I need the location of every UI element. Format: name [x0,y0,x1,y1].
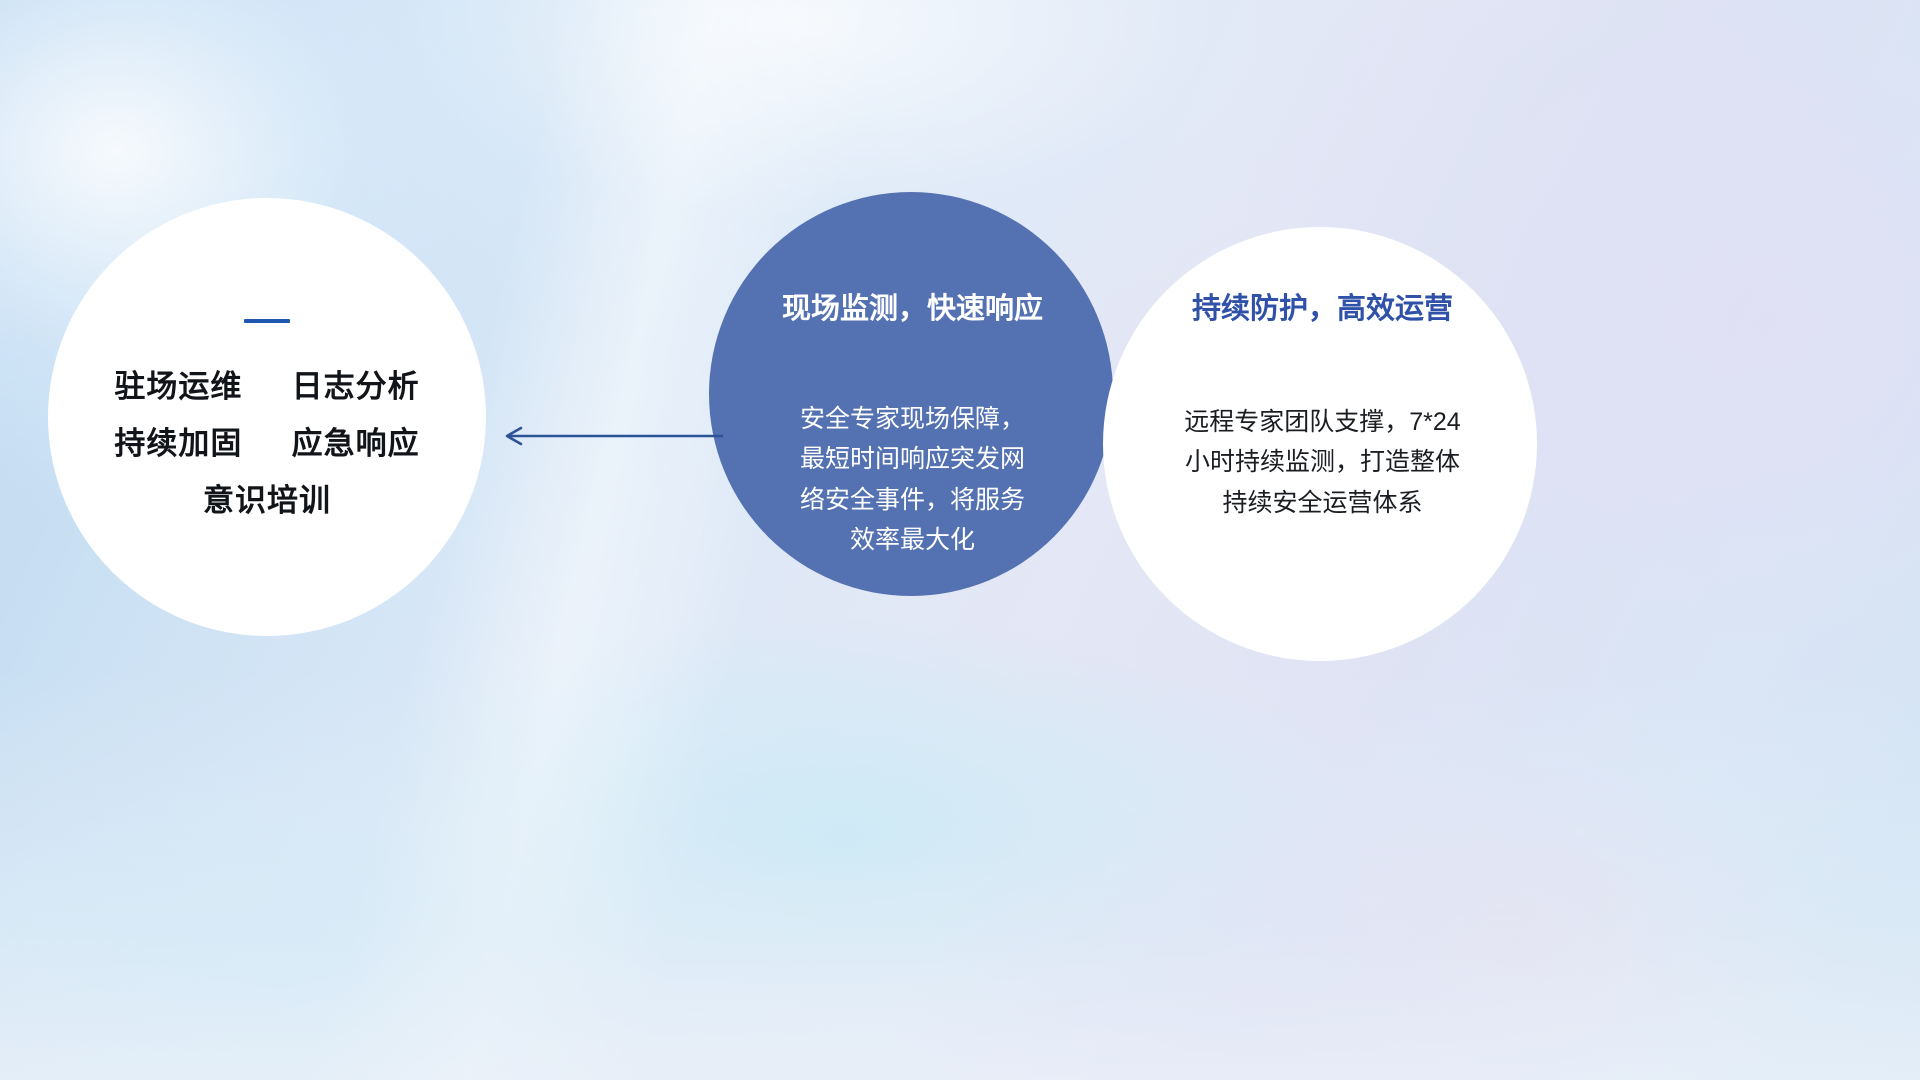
body-line: 远程专家团队支撑，7*24 [1184,408,1460,436]
capability-label-awareness-training: 意识培训 [203,483,331,518]
capability-row-1: 驻场运维 日志分析 [114,371,419,402]
continuous-protection-content: 持续防护，高效运营 远程专家团队支撑，7*24 小时持续监测，打造整体 持续安全… [1130,292,1515,523]
continuous-protection-body: 远程专家团队支撑，7*24 小时持续监测，打造整体 持续安全运营体系 [1130,402,1515,524]
slide-canvas: 驻场运维 日志分析 持续加固 应急响应 意识培训 现场监测，快速响应 安全专家现… [0,0,1920,1080]
capability-label-continuous-hardening: 持续加固 [114,426,242,461]
capability-label-log-analysis: 日志分析 [292,369,420,404]
body-line: 持续安全运营体系 [1222,489,1422,517]
onsite-monitoring-title: 现场监测，快速响应 [740,292,1085,327]
divider-dash-icon [244,319,290,323]
body-line: 小时持续监测，打造整体 [1185,448,1460,476]
body-line: 最短时间响应突发网 [800,445,1025,473]
continuous-protection-title: 持续防护，高效运营 [1130,292,1515,327]
body-line: 效率最大化 [850,526,975,554]
capability-row-3: 意识培训 [203,485,331,516]
left-pointing-arrow [495,424,725,448]
capability-label-emergency-response: 应急响应 [292,426,420,461]
onsite-monitoring-content: 现场监测，快速响应 安全专家现场保障， 最短时间响应突发网 络安全事件，将服务 … [740,292,1085,561]
capabilities-circle[interactable]: 驻场运维 日志分析 持续加固 应急响应 意识培训 [48,198,486,636]
body-line: 安全专家现场保障， [800,405,1025,433]
capability-label-onsite-ops: 驻场运维 [114,369,242,404]
onsite-monitoring-body: 安全专家现场保障， 最短时间响应突发网 络安全事件，将服务 效率最大化 [740,399,1085,561]
body-line: 络安全事件，将服务 [800,486,1025,514]
capability-row-2: 持续加固 应急响应 [114,428,419,459]
